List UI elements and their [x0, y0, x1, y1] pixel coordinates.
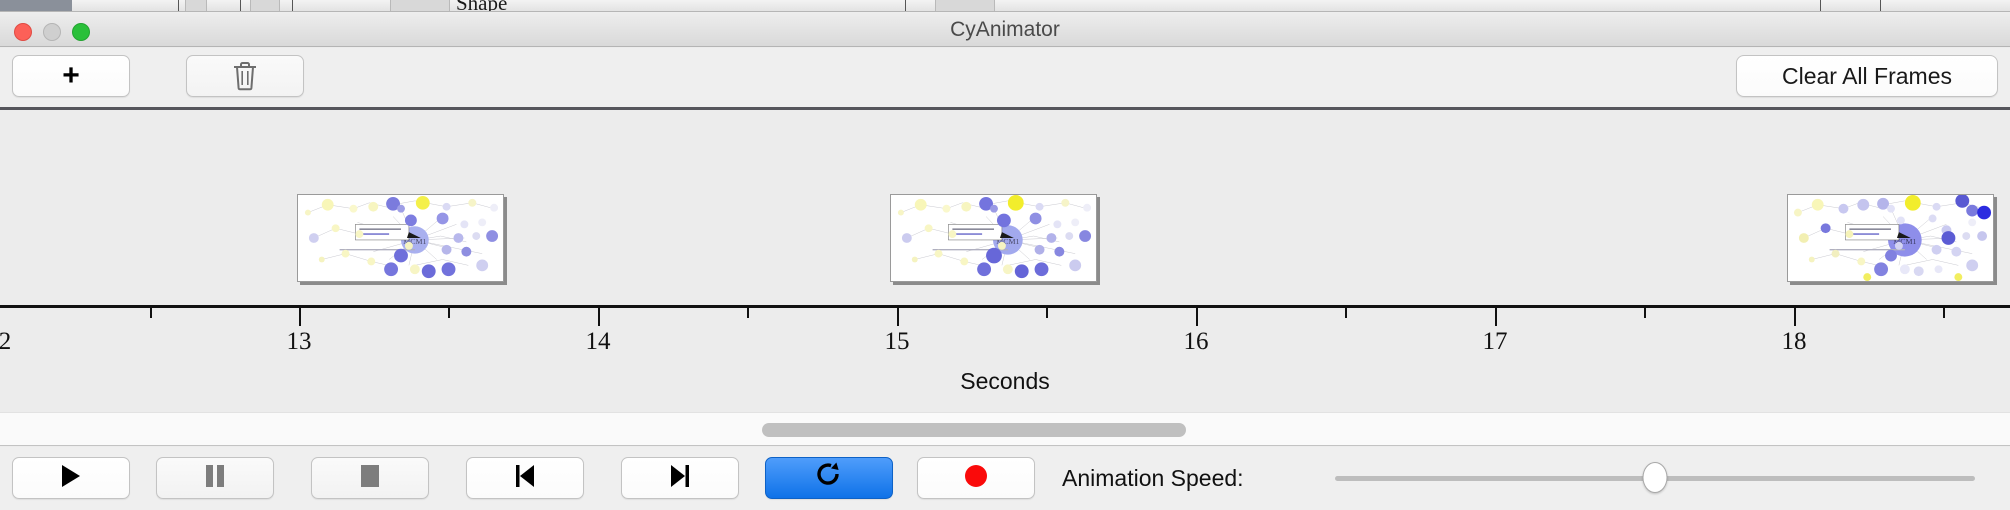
animation-speed-label: Animation Speed:: [1062, 457, 1244, 499]
ruler-tick-label: 14: [586, 328, 611, 356]
record-button[interactable]: [917, 457, 1035, 499]
pause-button[interactable]: [156, 457, 274, 499]
ruler-minor-tick: [747, 308, 749, 318]
background-window-tab-active: [0, 0, 72, 12]
background-window-divider: [1880, 0, 1881, 12]
background-window-divider: [240, 0, 241, 12]
background-window-divider: [1820, 0, 1821, 12]
pause-icon: [204, 463, 226, 494]
toolbar: + Clear All Frames: [0, 48, 2010, 108]
clear-all-frames-label: Clear All Frames: [1782, 63, 1952, 90]
plus-icon: +: [62, 61, 80, 91]
skip-previous-icon: [513, 463, 537, 494]
animation-speed-slider[interactable]: [1335, 457, 1975, 499]
background-window-divider: [905, 0, 906, 12]
playback-toolbar: Animation Speed:: [0, 447, 2010, 510]
ruler-major-tick: [1196, 308, 1198, 326]
stop-icon: [359, 464, 381, 493]
network-graph-preview: MCM1: [1788, 195, 1993, 281]
add-frame-button[interactable]: +: [12, 55, 130, 97]
clear-all-frames-button[interactable]: Clear All Frames: [1736, 55, 1998, 97]
ruler-tick-label: 17: [1483, 328, 1508, 356]
ruler-minor-tick: [1345, 308, 1347, 318]
record-icon: [963, 463, 989, 494]
ruler-baseline: [0, 305, 2010, 308]
cyanimator-window: Shape CyAnimator + Clear All: [0, 0, 2010, 510]
background-window-tab: [185, 0, 207, 12]
background-window-tab: [250, 0, 280, 12]
timeline-frame-thumbnail[interactable]: MCM1: [297, 194, 504, 282]
background-window-tab: [390, 0, 450, 12]
ruler-tick-label: 16: [1184, 328, 1209, 356]
play-button[interactable]: [12, 457, 130, 499]
skip-next-button[interactable]: [621, 457, 739, 499]
background-window-strip: Shape: [0, 0, 2010, 12]
ruler-tick-label: 13: [287, 328, 312, 356]
window-title: CyAnimator: [0, 12, 2010, 47]
timeline-horizontal-scrollbar[interactable]: [0, 412, 2010, 446]
ruler-major-tick: [897, 308, 899, 326]
ruler-major-tick: [598, 308, 600, 326]
loop-button[interactable]: [765, 457, 893, 499]
title-bar: CyAnimator: [0, 12, 2010, 47]
network-graph-preview: MCM1: [298, 195, 503, 281]
stop-button[interactable]: [311, 457, 429, 499]
ruler-minor-tick: [1943, 308, 1945, 318]
skip-previous-button[interactable]: [466, 457, 584, 499]
background-window-divider: [178, 0, 179, 12]
loop-icon: [815, 461, 843, 496]
play-icon: [59, 463, 83, 494]
ruler-major-tick: [1495, 308, 1497, 326]
timeline-panel[interactable]: MCM1: [0, 110, 2010, 412]
scrollbar-thumb[interactable]: [762, 423, 1186, 437]
background-window-divider: [292, 0, 293, 12]
ruler-tick-label: 15: [885, 328, 910, 356]
ruler-tick-label: 2: [0, 328, 11, 356]
ruler-minor-tick: [1644, 308, 1646, 318]
ruler-tick-label: 18: [1782, 328, 1807, 356]
ruler-minor-tick: [150, 308, 152, 318]
timeline-frame-thumbnail[interactable]: MCM1: [890, 194, 1097, 282]
timeline-axis-title: Seconds: [0, 368, 2010, 395]
skip-next-icon: [668, 463, 692, 494]
ruler-major-tick: [1794, 308, 1796, 326]
network-graph-preview: MCM1: [891, 195, 1096, 281]
ruler-major-tick: [299, 308, 301, 326]
ruler-minor-tick: [448, 308, 450, 318]
slider-thumb[interactable]: [1643, 462, 1668, 493]
timeline-frame-thumbnail[interactable]: MCM1: [1787, 194, 1994, 282]
background-window-label: Shape: [456, 0, 507, 12]
ruler-minor-tick: [1046, 308, 1048, 318]
background-window-tab: [935, 0, 995, 12]
trash-icon: [232, 61, 258, 91]
delete-frame-button[interactable]: [186, 55, 304, 97]
